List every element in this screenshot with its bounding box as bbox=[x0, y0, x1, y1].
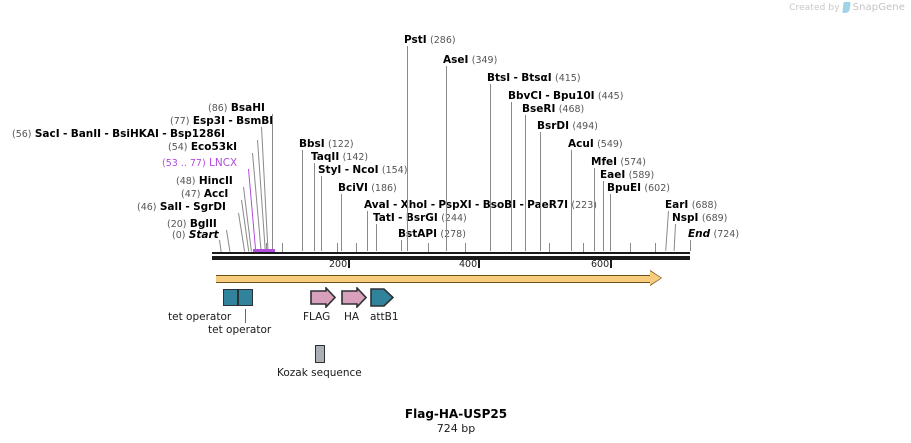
enzyme-label-mfeI[interactable]: MfeI (574) bbox=[591, 157, 646, 168]
enzyme-position: (445) bbox=[598, 91, 624, 102]
enzyme-name: BstAPI bbox=[398, 228, 437, 240]
enzyme-label-bsrDI[interactable]: BsrDI (494) bbox=[537, 121, 598, 132]
ruler-label-400: 400 bbox=[459, 259, 477, 270]
enzyme-name: BanII bbox=[71, 128, 101, 140]
watermark-prefix: Created by bbox=[789, 3, 840, 13]
enzyme-name: MfeI bbox=[591, 156, 617, 168]
feature-label-ha[interactable]: HA bbox=[344, 311, 359, 323]
enzyme-label-acuI[interactable]: AcuI (549) bbox=[568, 139, 623, 150]
enzyme-name: SacI bbox=[35, 128, 60, 140]
feature-name: LNCX bbox=[209, 157, 237, 169]
backbone-tick bbox=[282, 243, 283, 252]
snapgene-logo-icon bbox=[842, 2, 850, 13]
enzyme-name: AseI bbox=[443, 54, 468, 66]
marker-name: End bbox=[688, 228, 710, 240]
backbone-tick bbox=[655, 243, 656, 252]
enzyme-name: BciVI bbox=[338, 182, 368, 194]
enzyme-position: (589) bbox=[629, 170, 655, 181]
enzyme-label-sacI[interactable]: (56) SacI - BanII - BsiHKAI - Bsp1286I bbox=[12, 129, 225, 140]
enzyme-separator: - bbox=[398, 212, 402, 224]
marker-position: (724) bbox=[714, 229, 740, 240]
plasmid-length: 724 bp bbox=[356, 422, 556, 435]
enzyme-position: (186) bbox=[371, 183, 397, 194]
leader-line-bpuEI bbox=[610, 194, 611, 251]
enzyme-position: (154) bbox=[382, 165, 408, 176]
enzyme-position: (689) bbox=[702, 213, 728, 224]
enzyme-position: (549) bbox=[597, 139, 623, 150]
marker-position: (0) bbox=[172, 230, 185, 241]
enzyme-position: (77) bbox=[170, 116, 190, 127]
enzyme-label-nspI[interactable]: NspI (689) bbox=[672, 213, 727, 224]
plasmid-title-block: Flag-HA-USP25 724 bp bbox=[356, 407, 556, 435]
enzyme-label-eaeI[interactable]: EaeI (589) bbox=[600, 170, 654, 181]
leader-line-earI bbox=[665, 211, 669, 251]
enzyme-name: EarI bbox=[665, 199, 688, 211]
leader-line-btsI bbox=[490, 84, 491, 251]
leader-line-avaI bbox=[367, 211, 368, 251]
plasmid-map-canvas: Created by SnapGene PstI (286) AseI (349… bbox=[0, 0, 911, 443]
enzyme-name: BsaHI bbox=[231, 102, 265, 114]
feature-label-tet-operator-2[interactable]: tet operator bbox=[208, 324, 271, 336]
marker-name: Start bbox=[189, 229, 219, 241]
enzyme-separator: - bbox=[519, 199, 523, 211]
enzyme-name: Bpu10I bbox=[553, 90, 595, 102]
enzyme-separator: - bbox=[104, 128, 108, 140]
enzyme-separator: - bbox=[514, 72, 518, 84]
enzyme-name: Eco53kI bbox=[191, 141, 237, 153]
leader-line-tatI bbox=[376, 224, 377, 251]
enzyme-name: SalI bbox=[160, 201, 182, 213]
enzyme-label-btsI[interactable]: BtsI - BtsαI (415) bbox=[487, 73, 581, 84]
enzyme-name: BbsI bbox=[299, 138, 325, 150]
leader-line-styI bbox=[321, 176, 322, 251]
enzyme-name: PaeR7I bbox=[527, 199, 568, 211]
enzyme-name: TatI bbox=[373, 212, 395, 224]
backbone-tick bbox=[337, 243, 338, 252]
enzyme-position: (142) bbox=[343, 152, 369, 163]
ruler-tick-400 bbox=[478, 260, 480, 268]
ruler-label-600: 600 bbox=[591, 259, 609, 270]
ruler-tick-200 bbox=[348, 260, 350, 268]
enzyme-label-bstAPI[interactable]: BstAPI (278) bbox=[398, 229, 466, 240]
feature-label-tet-operator-1[interactable]: tet operator bbox=[168, 311, 231, 323]
enzyme-name: Esp3I bbox=[193, 115, 225, 127]
enzyme-position: (415) bbox=[555, 73, 581, 84]
watermark-brand: SnapGene bbox=[853, 2, 905, 13]
leader-line-bseRI bbox=[525, 115, 526, 251]
enzyme-separator: - bbox=[475, 199, 479, 211]
enzyme-name: BpuEI bbox=[607, 182, 641, 194]
enzyme-label-eco53kI[interactable]: (54) Eco53kI bbox=[168, 142, 237, 153]
enzyme-label-bsaHI[interactable]: (86) BsaHI bbox=[208, 103, 265, 114]
enzyme-position: (47) bbox=[181, 189, 201, 200]
sequence-backbone-lower bbox=[212, 256, 690, 260]
enzyme-position: (349) bbox=[472, 55, 498, 66]
leader-line-bbsI bbox=[302, 150, 303, 251]
snapgene-watermark: Created by SnapGene bbox=[789, 2, 905, 13]
enzyme-name: BsrDI bbox=[537, 120, 569, 132]
enzyme-name: XhoI bbox=[401, 199, 428, 211]
feature-attb1-arrow[interactable] bbox=[370, 287, 394, 308]
leader-line-bsaHI bbox=[272, 114, 273, 252]
feature-label-flag[interactable]: FLAG bbox=[303, 311, 330, 323]
enzyme-separator: - bbox=[162, 128, 166, 140]
leader-line-start bbox=[219, 240, 222, 252]
enzyme-position: (574) bbox=[620, 157, 646, 168]
enzyme-position: (286) bbox=[430, 35, 456, 46]
enzyme-name: HincII bbox=[199, 175, 233, 187]
enzyme-position: (494) bbox=[572, 121, 598, 132]
enzyme-name: AvaI bbox=[364, 199, 390, 211]
enzyme-name: AccI bbox=[204, 188, 228, 200]
enzyme-label-accI[interactable]: (47) AccI bbox=[181, 189, 228, 200]
marker-label-end[interactable]: End (724) bbox=[688, 229, 739, 240]
ruler-tick-600 bbox=[610, 260, 612, 268]
enzyme-position: (48) bbox=[176, 176, 196, 187]
enzyme-position: (86) bbox=[208, 103, 228, 114]
feature-label-lncx[interactable]: (53 .. 77) LNCX bbox=[162, 158, 237, 169]
leader-line-end bbox=[690, 240, 691, 251]
enzyme-position: (468) bbox=[559, 104, 585, 115]
enzyme-label-styI[interactable]: StyI - NcoI (154) bbox=[318, 165, 407, 176]
enzyme-label-bbvcI[interactable]: BbvCI - Bpu10I (445) bbox=[508, 91, 623, 102]
enzyme-name: PspXI bbox=[438, 199, 471, 211]
enzyme-name: SgrDI bbox=[193, 201, 226, 213]
enzyme-position: (602) bbox=[644, 183, 670, 194]
backbone-tick bbox=[630, 243, 631, 252]
backbone-tick bbox=[465, 243, 466, 252]
feature-tet-operator-1[interactable] bbox=[223, 289, 238, 306]
enzyme-name: BsiHKAI bbox=[112, 128, 159, 140]
leader-line-bbvcI bbox=[511, 102, 512, 251]
leader-line-bsrDI bbox=[540, 132, 541, 251]
enzyme-name: NcoI bbox=[352, 164, 378, 176]
backbone-tick bbox=[583, 243, 584, 252]
enzyme-name: StyI bbox=[318, 164, 341, 176]
feature-ha-arrow[interactable] bbox=[341, 287, 367, 308]
enzyme-name: BsmBI bbox=[236, 115, 273, 127]
enzyme-label-bseRI[interactable]: BseRI (468) bbox=[522, 104, 584, 115]
leader-line-esp3I bbox=[261, 127, 269, 252]
leader-line-aseI bbox=[446, 66, 447, 251]
enzyme-label-bciVI[interactable]: BciVI (186) bbox=[338, 183, 397, 194]
enzyme-separator: - bbox=[63, 128, 67, 140]
leader-line-bstAPI bbox=[401, 240, 402, 251]
enzyme-name: BtsI bbox=[487, 72, 510, 84]
enzyme-name: BtsαI bbox=[521, 72, 551, 84]
enzyme-position: (278) bbox=[440, 229, 466, 240]
sequence-backbone-upper bbox=[212, 252, 690, 254]
enzyme-name: PstI bbox=[404, 34, 427, 46]
enzyme-label-tatI[interactable]: TatI - BsrGI (244) bbox=[373, 213, 467, 224]
feature-label-attb1[interactable]: attB1 bbox=[370, 311, 399, 323]
enzyme-label-avaI[interactable]: AvaI - XhoI - PspXI - BsoBI - PaeR7I (22… bbox=[364, 200, 597, 211]
enzyme-label-aseI[interactable]: AseI (349) bbox=[443, 55, 497, 66]
leader-line-bglII bbox=[226, 230, 230, 252]
leader-line-nspI bbox=[674, 224, 676, 251]
ruler-label-200: 200 bbox=[329, 259, 347, 270]
enzyme-separator: - bbox=[393, 199, 397, 211]
enzyme-label-pstI[interactable]: PstI (286) bbox=[404, 35, 456, 46]
enzyme-position: (54) bbox=[168, 142, 188, 153]
enzyme-label-bpuEI[interactable]: BpuEI (602) bbox=[607, 183, 670, 194]
leader-line-eaeI bbox=[603, 181, 604, 251]
backbone-tick bbox=[356, 243, 357, 252]
enzyme-separator: - bbox=[545, 90, 549, 102]
feature-stem-tet-operator-2 bbox=[245, 309, 246, 323]
enzyme-label-bbsI[interactable]: BbsI (122) bbox=[299, 139, 354, 150]
enzyme-name: EaeI bbox=[600, 169, 625, 181]
enzyme-label-hincII[interactable]: (48) HincII bbox=[176, 176, 233, 187]
enzyme-name: BsrGI bbox=[406, 212, 438, 224]
enzyme-name: AcuI bbox=[568, 138, 594, 150]
enzyme-position: (688) bbox=[692, 200, 718, 211]
marker-label-start[interactable]: (0) Start bbox=[172, 230, 219, 241]
feature-tet-operator-2[interactable] bbox=[238, 289, 253, 306]
enzyme-label-salI[interactable]: (46) SalI - SgrDI bbox=[137, 202, 226, 213]
enzyme-name: TaqII bbox=[311, 151, 339, 163]
orf-arrow-body bbox=[216, 275, 650, 283]
feature-flag-arrow[interactable] bbox=[310, 287, 336, 308]
leader-line-mfeI bbox=[594, 168, 595, 251]
leader-line-taqII bbox=[314, 163, 315, 251]
leader-line-acuI bbox=[571, 150, 572, 251]
leader-line-pstI bbox=[407, 46, 408, 251]
plasmid-name: Flag-HA-USP25 bbox=[356, 407, 556, 421]
backbone-tick bbox=[428, 243, 429, 252]
feature-label-kozak[interactable]: Kozak sequence bbox=[277, 367, 362, 379]
feature-kozak-box[interactable] bbox=[315, 345, 325, 363]
enzyme-label-taqII[interactable]: TaqII (142) bbox=[311, 152, 368, 163]
enzyme-name: Bsp1286I bbox=[170, 128, 225, 140]
enzyme-name: NspI bbox=[672, 212, 698, 224]
orf-arrow-head bbox=[650, 271, 661, 285]
backbone-tick bbox=[549, 243, 550, 252]
enzyme-position: (46) bbox=[137, 202, 157, 213]
enzyme-position: (56) bbox=[12, 129, 32, 140]
enzyme-separator: - bbox=[228, 115, 232, 127]
enzyme-label-esp3I[interactable]: (77) Esp3I - BsmBI bbox=[170, 116, 273, 127]
enzyme-name: BseRI bbox=[522, 103, 555, 115]
enzyme-separator: - bbox=[431, 199, 435, 211]
enzyme-name: BbvCI bbox=[508, 90, 542, 102]
leader-line-bciVI bbox=[341, 194, 342, 251]
enzyme-separator: - bbox=[345, 164, 349, 176]
enzyme-position: (20) bbox=[167, 219, 187, 230]
feature-position: (53 .. 77) bbox=[162, 158, 206, 169]
enzyme-separator: - bbox=[185, 201, 189, 213]
enzyme-position: (122) bbox=[328, 139, 354, 150]
enzyme-label-earI[interactable]: EarI (688) bbox=[665, 200, 717, 211]
